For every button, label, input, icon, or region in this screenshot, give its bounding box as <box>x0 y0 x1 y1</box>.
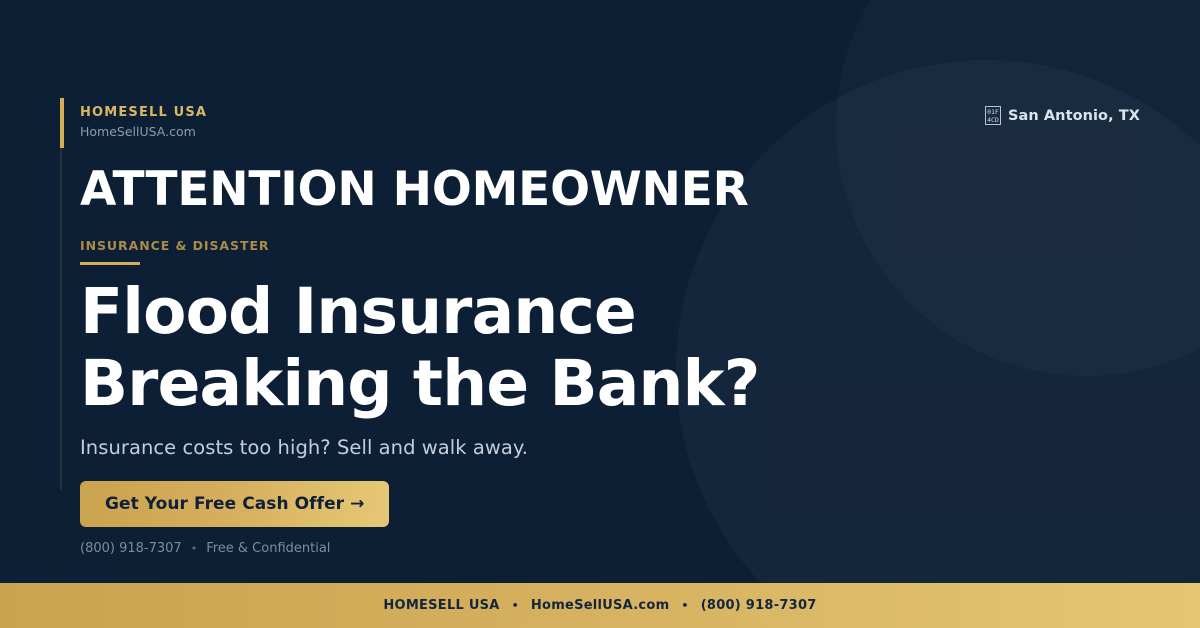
eyebrow-underline <box>80 262 140 265</box>
footer-phone[interactable]: (800) 918-7307 <box>701 598 817 613</box>
trust-note: Free & Confidential <box>206 541 330 556</box>
headline-line-1: Flood Insurance <box>80 275 636 348</box>
brand-block: HOMESELL USA HomeSellUSA.com <box>80 105 207 141</box>
trust-separator: • <box>191 542 198 555</box>
brand-website: HomeSellUSA.com <box>80 124 207 141</box>
kicker-text: ATTENTION HOMEOWNER <box>80 162 749 217</box>
subheadline: Insurance costs too high? Sell and walk … <box>80 436 528 459</box>
left-rail-faint <box>60 98 62 490</box>
pushpin-icon: 01F 4CD <box>985 106 1001 125</box>
brand-name: HOMESELL USA <box>80 105 207 121</box>
pushpin-icon-codepoint-bottom: 4CD <box>987 116 999 124</box>
footer-bar: HOMESELL USA • HomeSellUSA.com • (800) 9… <box>0 583 1200 628</box>
trust-line: (800) 918-7307 • Free & Confidential <box>80 541 330 556</box>
eyebrow-label: INSURANCE & DISASTER <box>80 238 270 253</box>
location-badge: 01F 4CD San Antonio, TX <box>985 106 1140 125</box>
footer-separator-2: • <box>681 599 688 612</box>
footer-website[interactable]: HomeSellUSA.com <box>531 598 670 613</box>
location-label: San Antonio, TX <box>1008 108 1140 124</box>
get-free-cash-offer-button[interactable]: Get Your Free Cash Offer → <box>80 481 389 527</box>
ad-creative: HOMESELL USA HomeSellUSA.com 01F 4CD San… <box>0 0 1200 628</box>
brand-row: HOMESELL USA HomeSellUSA.com 01F 4CD San… <box>80 105 1140 141</box>
footer-separator-1: • <box>512 599 519 612</box>
footer-brand: HOMESELL USA <box>383 598 499 613</box>
page-title: Flood Insurance Breaking the Bank? <box>80 276 840 420</box>
pushpin-icon-codepoint-top: 01F <box>987 108 999 116</box>
left-rail-accent <box>60 98 64 148</box>
headline-line-2: Breaking the Bank? <box>80 348 840 420</box>
phone-number[interactable]: (800) 918-7307 <box>80 541 182 556</box>
ad-content: HOMESELL USA HomeSellUSA.com 01F 4CD San… <box>80 0 1120 583</box>
